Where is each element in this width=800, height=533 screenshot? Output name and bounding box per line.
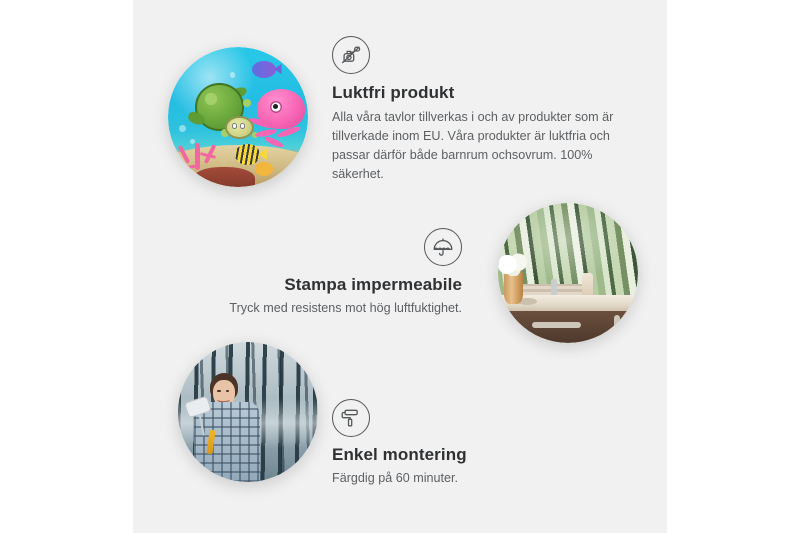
bubble-icon — [230, 72, 236, 78]
feature-title: Stampa impermeabile — [162, 275, 462, 295]
small-fish-icon — [255, 162, 273, 176]
feature-description: Alla våra tavlor tillverkas i och av pro… — [332, 108, 632, 185]
photo-bathroom — [498, 203, 638, 343]
octopus-tentacle — [264, 135, 285, 149]
infographic-canvas: Luktfri produkt Alla våra tavlor tillver… — [0, 0, 800, 533]
octopus-eye — [270, 101, 283, 113]
paint-roller-icon — [332, 399, 370, 437]
feature-description: Tryck med resistens mot hög luftfuktighe… — [162, 299, 462, 318]
bathroom-vanity-cabinet — [509, 311, 638, 343]
photo-forest-painter — [178, 342, 318, 482]
photo-ocean — [168, 47, 308, 187]
feature-title: Enkel montering — [332, 445, 592, 465]
umbrella-icon — [424, 228, 462, 266]
painter-person — [189, 373, 267, 482]
octopus-head — [257, 89, 305, 129]
feature-title: Luktfri produkt — [332, 83, 632, 103]
bathroom-flowers — [498, 253, 529, 275]
no-fragrance-spray-icon — [332, 36, 370, 74]
yellow-fish-icon — [235, 144, 260, 165]
feature-description: Färgdig på 60 minuter. — [332, 469, 592, 488]
coral-illustration — [176, 131, 224, 170]
blue-fish-icon — [252, 61, 276, 78]
feature-easy-mounting: Enkel montering Färgdig på 60 minuter. — [332, 399, 592, 488]
person-plaid-shirt — [194, 402, 260, 482]
ocean-rock — [193, 167, 255, 187]
feature-odorless: Luktfri produkt Alla våra tavlor tillver… — [332, 36, 632, 185]
octopus-illustration — [246, 89, 305, 153]
feature-waterproof: Stampa impermeabile Tryck med resistens … — [162, 228, 462, 318]
